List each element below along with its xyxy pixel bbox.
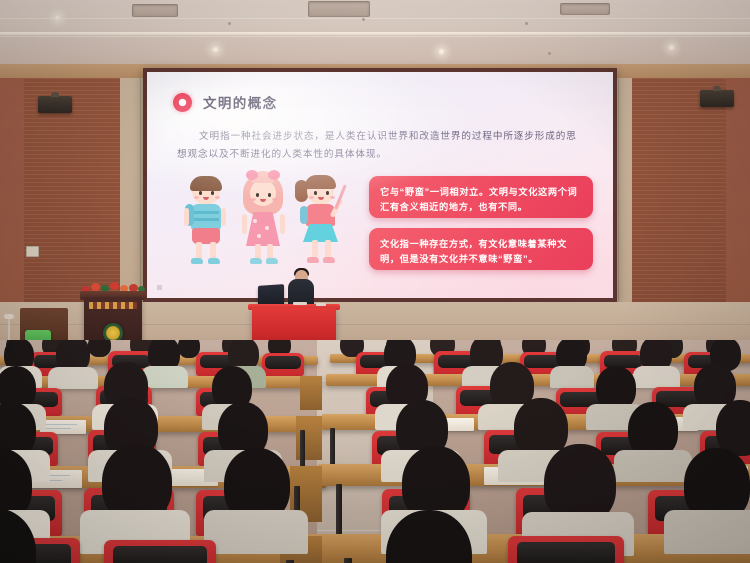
- ceiling-light: [668, 44, 675, 51]
- projection-screen: 文明的概念 文明指一种社会进步状态，是人类在认识世界和改造世界的过程中所逐步形成…: [147, 72, 613, 298]
- child-figure-girl-pigtails: [297, 178, 349, 270]
- ceiling-light: [438, 48, 445, 55]
- child-figure-girl-pink: [238, 176, 290, 270]
- ceiling-vent: [308, 1, 370, 17]
- slide-corner-mark: [157, 285, 162, 290]
- podium: [84, 297, 142, 345]
- slide-body-text: 文明指一种社会进步状态，是人类在认识世界和改造世界的过程中所逐步形成的思想观念以…: [177, 128, 587, 163]
- slide-callout-card-2: 文化指一种存在方式，有文化意味着某种文明，但是没有文化并不意味“野蛮”。: [369, 228, 593, 270]
- ring-dot-icon: [173, 93, 192, 112]
- slide-title-row: 文明的概念: [173, 92, 278, 112]
- ceiling: [0, 0, 750, 64]
- desk-papers: [316, 303, 326, 306]
- slide-title: 文明的概念: [203, 92, 278, 112]
- ceiling-light-strip: [0, 32, 750, 35]
- ceiling-vent: [132, 4, 178, 17]
- child-figure-boy: [183, 178, 231, 270]
- ceiling-light: [212, 46, 219, 53]
- wall-speaker-left: [38, 96, 72, 113]
- slide-callout-card-1: 它与“野蛮”一词相对立。文明与文化这两个词汇有含义相近的地方，也有不同。: [369, 176, 593, 218]
- lecture-hall-scene: 文明的概念 文明指一种社会进步状态，是人类在认识世界和改造世界的过程中所逐步形成…: [0, 0, 750, 563]
- three-children-illustration: [183, 174, 355, 270]
- ceiling-vent: [560, 3, 610, 15]
- microphone: [4, 314, 14, 319]
- projection-screen-frame: 文明的概念 文明指一种社会进步状态，是人类在认识世界和改造世界的过程中所逐步形成…: [143, 68, 617, 302]
- desk-microphone: [293, 302, 307, 305]
- podium-nameplate: [89, 302, 137, 309]
- ceiling-light: [54, 14, 61, 21]
- wall-speaker-right: [700, 90, 734, 107]
- audience-area: [0, 340, 750, 563]
- backpack: [300, 206, 308, 224]
- wall-outlet[interactable]: [26, 246, 39, 257]
